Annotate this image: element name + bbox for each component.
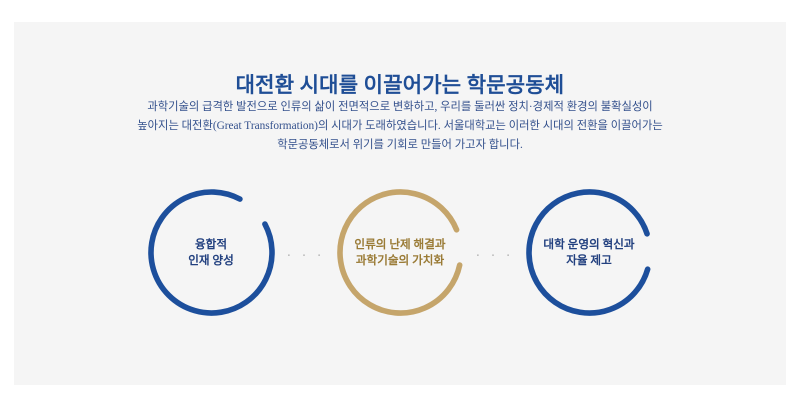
vision-node-label-line-2: 인재 양성 [188, 253, 234, 269]
vision-node-science-value: 인류의 난제 해결과 과학기술의 가치화 [334, 186, 467, 319]
vision-node-governance: 대학 운영의 혁신과 자율 제고 [523, 186, 656, 319]
vision-node-talent: 융합적 인재 양성 [145, 186, 278, 319]
intro-paragraph: 과학기술의 급격한 발전으로 인류의 삶이 전면적으로 변화하고, 우리를 둘러… [100, 98, 700, 155]
intro-line-3: 학문공동체로서 위기를 기회로 만들어 가고자 합니다. [100, 136, 700, 155]
content-panel: 대전환 시대를 이끌어가는 학문공동체 과학기술의 급격한 발전으로 인류의 삶… [14, 22, 786, 385]
intro-line-2: 높아지는 대전환(Great Transformation)의 시대가 도래하였… [100, 117, 700, 136]
vision-node-label: 융합적 인재 양성 [188, 237, 234, 269]
vision-node-label: 인류의 난제 해결과 과학기술의 가치화 [354, 237, 445, 269]
vision-diagram: 융합적 인재 양성 · · · 인류의 난제 해결과 과학기술의 가치화 · ·… [14, 180, 786, 325]
intro-line-1: 과학기술의 급격한 발전으로 인류의 삶이 전면적으로 변화하고, 우리를 둘러… [100, 98, 700, 117]
diagram-separator-2: · · · [467, 246, 523, 263]
diagram-separator-1: · · · [278, 246, 334, 263]
vision-node-label: 대학 운영의 혁신과 자율 제고 [543, 237, 634, 269]
vision-node-label-line-1: 대학 운영의 혁신과 [543, 237, 634, 253]
vision-node-label-line-2: 과학기술의 가치화 [354, 253, 445, 269]
page-root: 대전환 시대를 이끌어가는 학문공동체 과학기술의 급격한 발전으로 인류의 삶… [0, 0, 800, 403]
vision-node-label-line-1: 융합적 [188, 237, 234, 253]
vision-node-label-line-2: 자율 제고 [543, 253, 634, 269]
page-title: 대전환 시대를 이끌어가는 학문공동체 [14, 69, 786, 99]
vision-node-label-line-1: 인류의 난제 해결과 [354, 237, 445, 253]
